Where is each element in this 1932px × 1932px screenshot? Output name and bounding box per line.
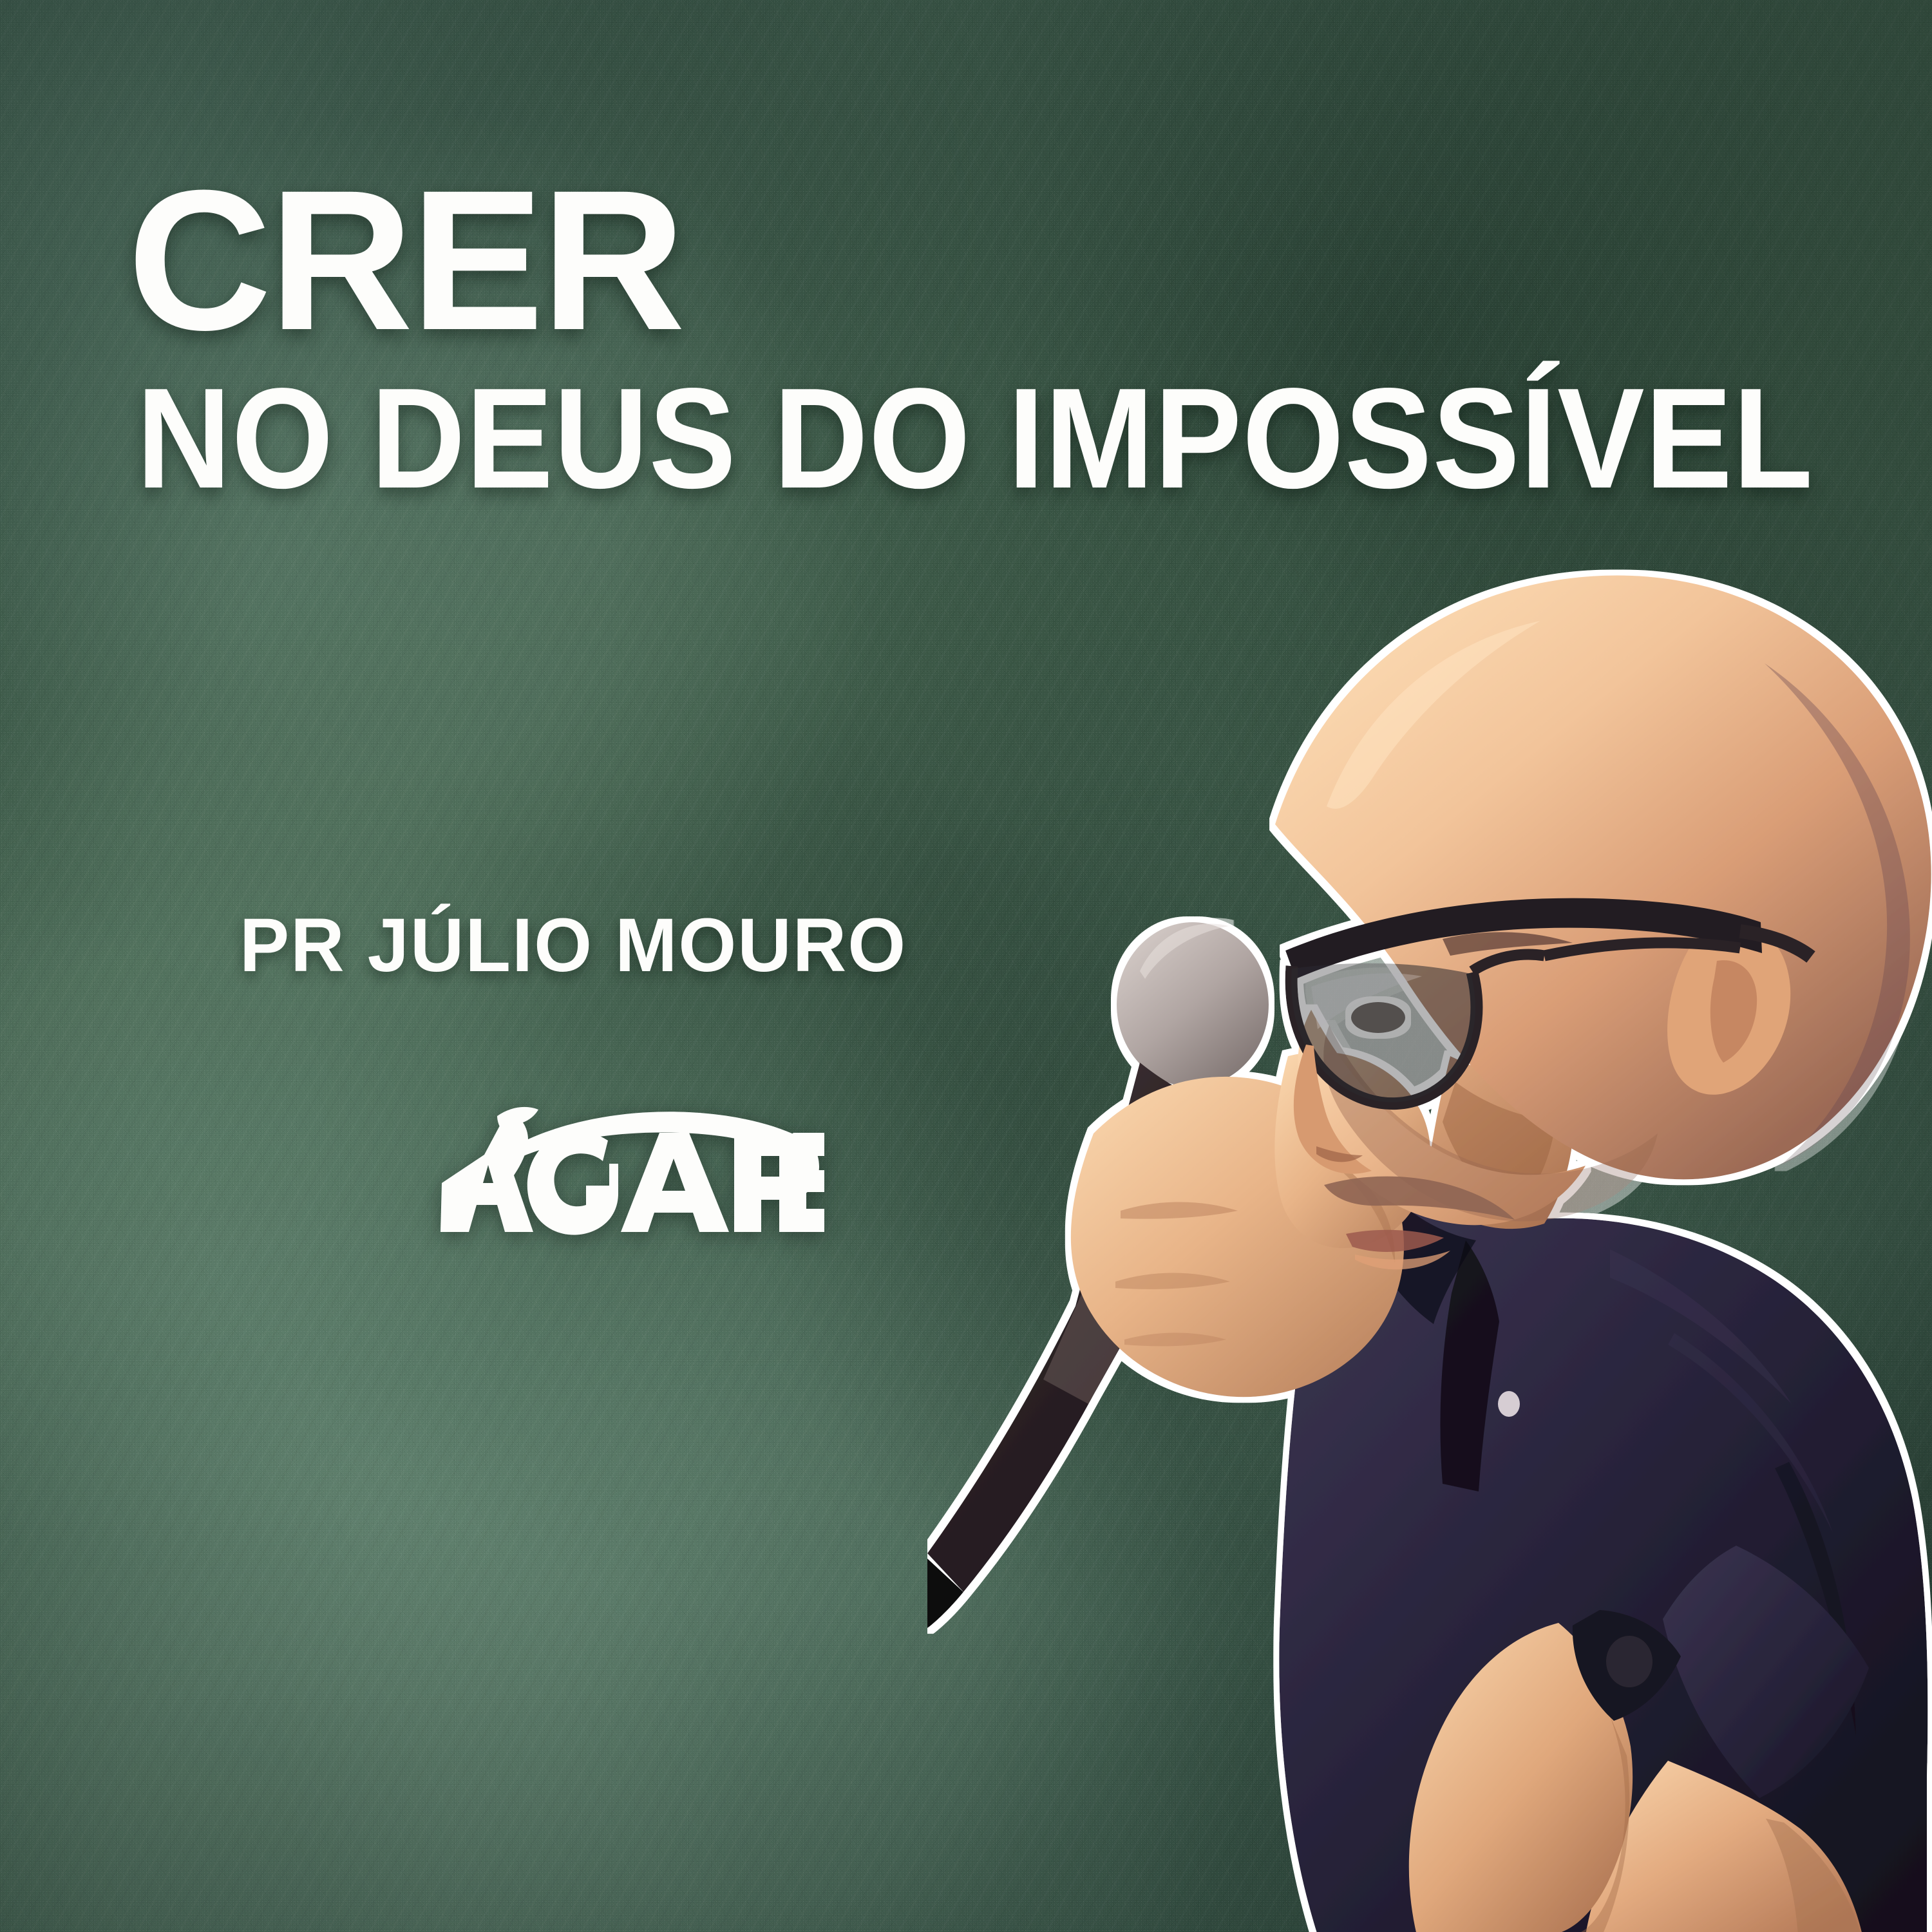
speaker-photo-cutout <box>927 567 1932 1932</box>
cutout-silhouette <box>927 575 1931 1932</box>
logo-letter-e <box>779 1133 824 1232</box>
page-title: CRER <box>128 173 683 348</box>
logo-letter-a <box>440 1116 533 1232</box>
page-subtitle: NO DEUS DO IMPOSSÍVEL <box>137 367 1814 510</box>
watch-face <box>1606 1636 1653 1687</box>
speaker-name: PR JÚLIO MOURO <box>240 902 907 989</box>
agape-logo <box>438 1079 824 1249</box>
eye <box>1351 1002 1405 1033</box>
logo-letter-a2 <box>621 1133 729 1232</box>
microphone-head <box>1117 922 1269 1087</box>
shirt-chest-logo <box>1498 1391 1520 1417</box>
poster-canvas: CRER NO DEUS DO IMPOSSÍVEL PR JÚLIO MOUR… <box>0 0 1932 1932</box>
